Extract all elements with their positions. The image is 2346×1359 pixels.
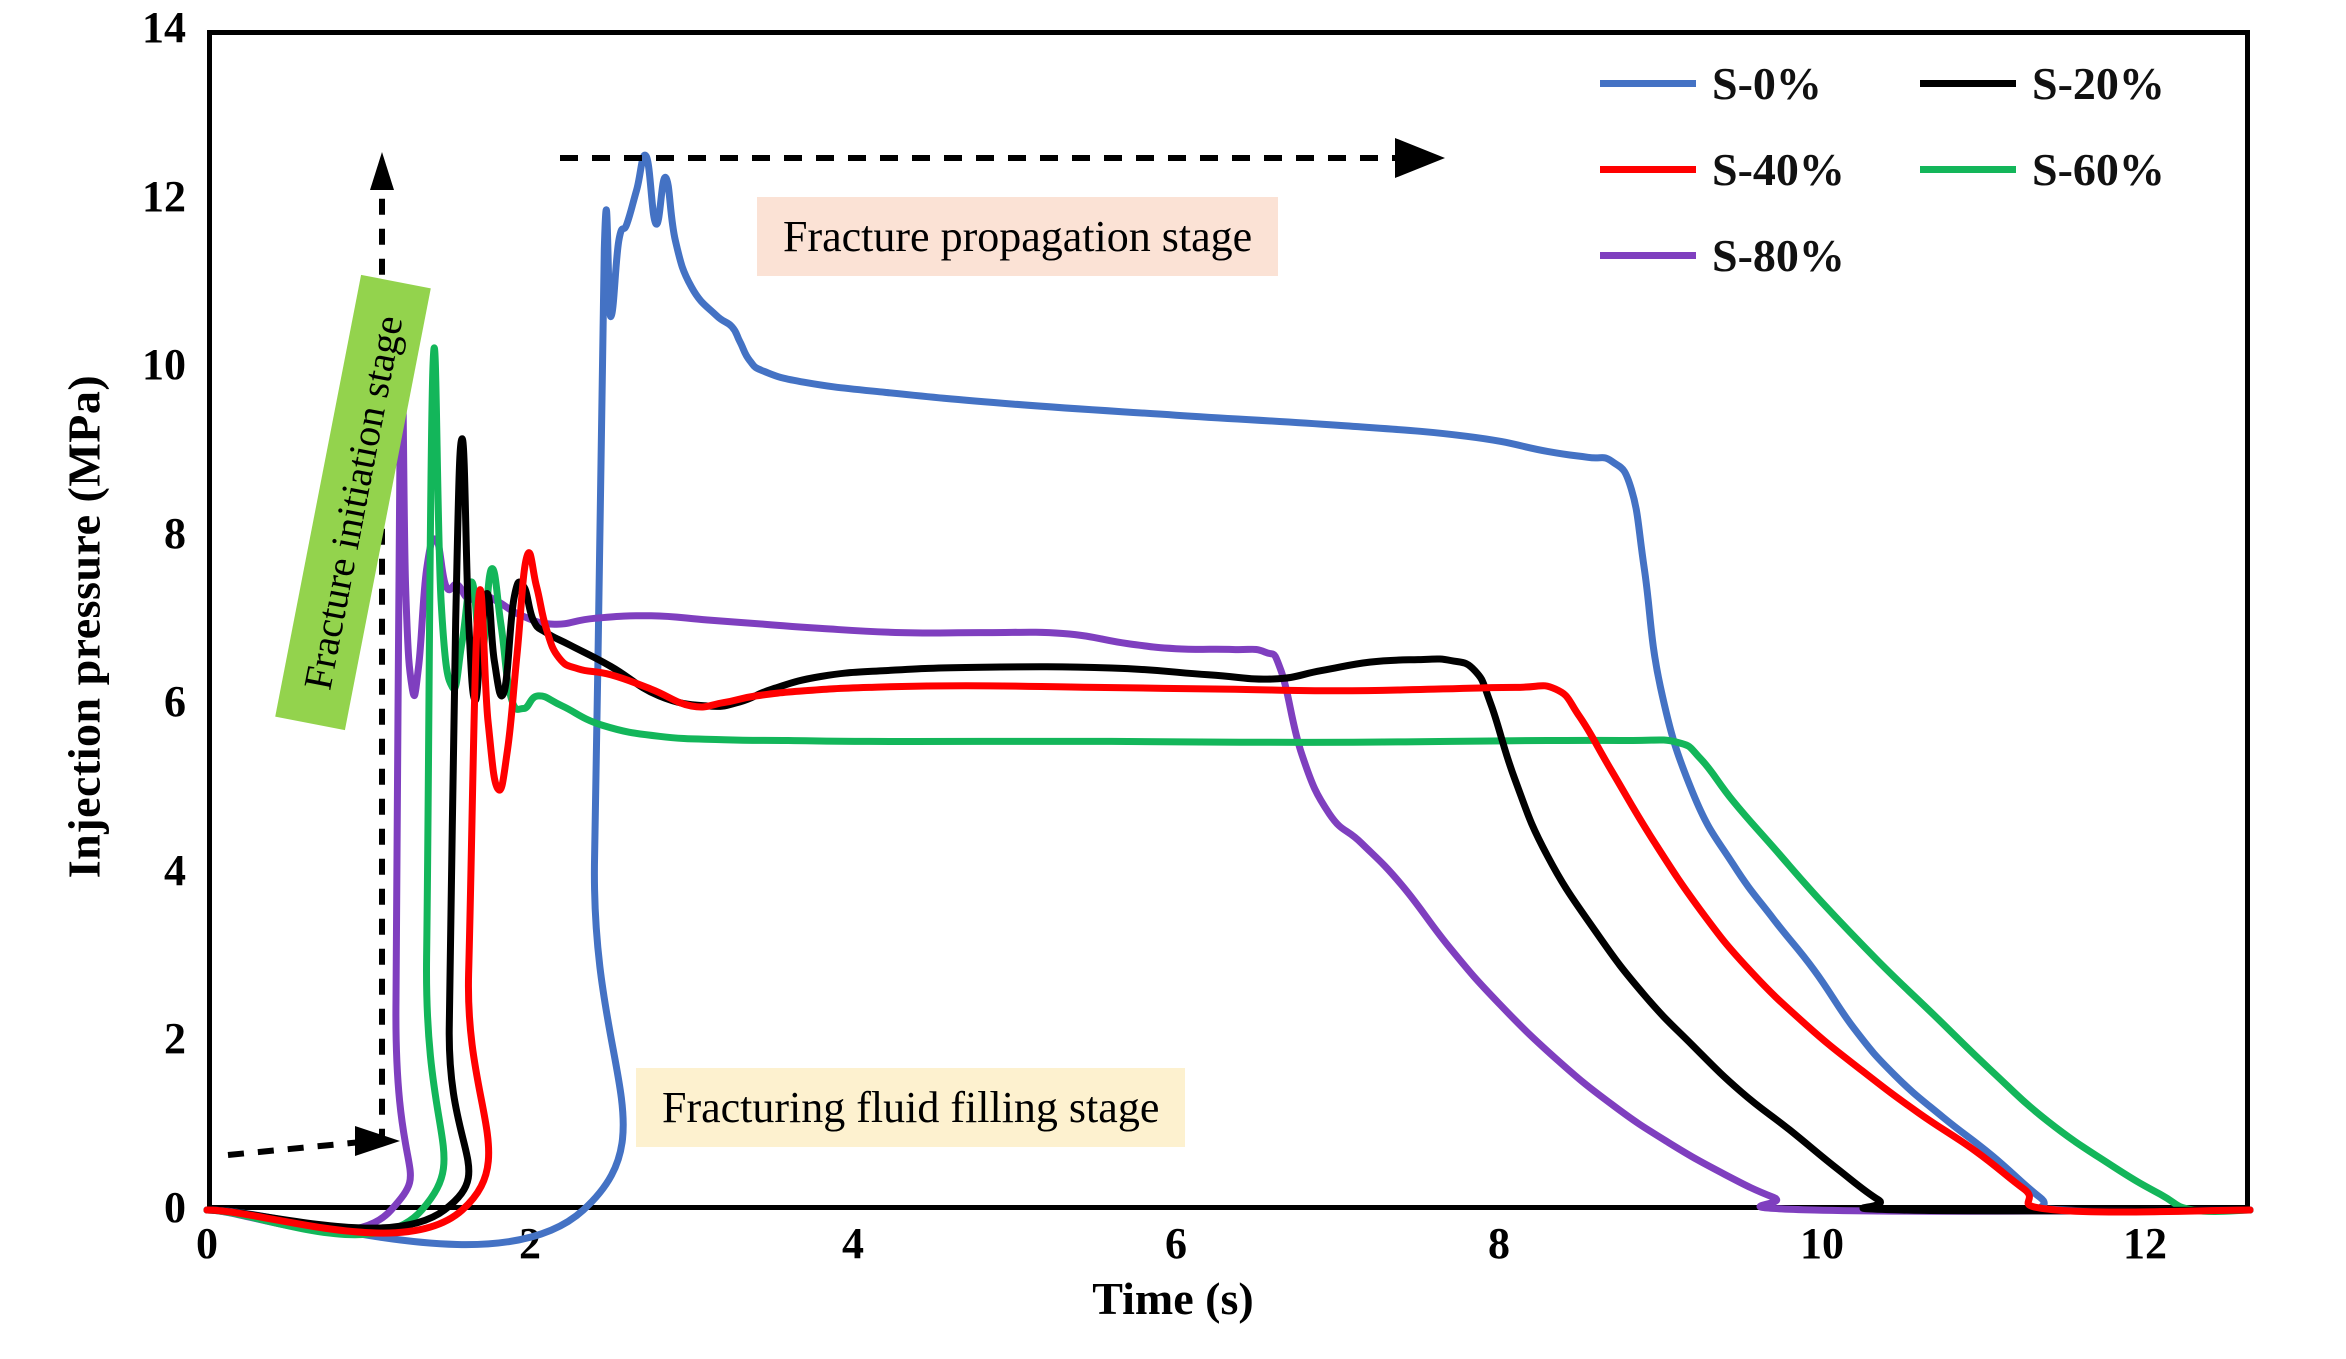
legend-swatch-s-80 xyxy=(1600,252,1696,259)
y-tick-2: 2 xyxy=(66,1013,186,1064)
y-tick-6: 6 xyxy=(66,676,186,727)
x-tick-10: 10 xyxy=(1762,1218,1882,1269)
annotation-fracturing-fluid-filling: Fracturing fluid filling stage xyxy=(636,1068,1185,1147)
y-tick-8: 8 xyxy=(66,508,186,559)
legend-item-s-20[interactable]: S-20% xyxy=(1920,57,2240,110)
legend-item-s-60[interactable]: S-60% xyxy=(1920,143,2240,196)
legend-row: S-40%S-60% xyxy=(1600,126,2240,212)
legend-swatch-s-20 xyxy=(1920,80,2016,87)
legend-label-s-20: S-20% xyxy=(2032,57,2165,110)
x-tick-8: 8 xyxy=(1439,1218,1559,1269)
y-tick-14: 14 xyxy=(66,2,186,53)
x-tick-4: 4 xyxy=(793,1218,913,1269)
x-tick-0: 0 xyxy=(147,1218,267,1269)
legend-swatch-s-0 xyxy=(1600,80,1696,87)
legend-row: S-80% xyxy=(1600,212,2240,298)
x-tick-12: 12 xyxy=(2085,1218,2205,1269)
y-tick-12: 12 xyxy=(66,171,186,222)
legend-swatch-s-60 xyxy=(1920,166,2016,173)
legend-row: S-0%S-20% xyxy=(1600,40,2240,126)
x-tick-6: 6 xyxy=(1116,1218,1236,1269)
legend-swatch-s-40 xyxy=(1600,166,1696,173)
legend-label-s-0: S-0% xyxy=(1712,57,1822,110)
chart-figure: Injection pressure (MPa) Time (s) 024681… xyxy=(0,0,2346,1359)
x-tick-2: 2 xyxy=(470,1218,590,1269)
legend-label-s-60: S-60% xyxy=(2032,143,2165,196)
legend: S-0%S-20%S-40%S-60%S-80% xyxy=(1600,40,2240,330)
legend-item-s-80[interactable]: S-80% xyxy=(1600,229,1920,282)
legend-item-s-0[interactable]: S-0% xyxy=(1600,57,1920,110)
legend-label-s-80: S-80% xyxy=(1712,229,1845,282)
y-tick-10: 10 xyxy=(66,339,186,390)
annotation-fracture-propagation: Fracture propagation stage xyxy=(757,197,1278,276)
legend-label-s-40: S-40% xyxy=(1712,143,1845,196)
y-tick-4: 4 xyxy=(66,845,186,896)
x-axis-title: Time (s) xyxy=(0,1272,2346,1325)
legend-item-s-40[interactable]: S-40% xyxy=(1600,143,1920,196)
